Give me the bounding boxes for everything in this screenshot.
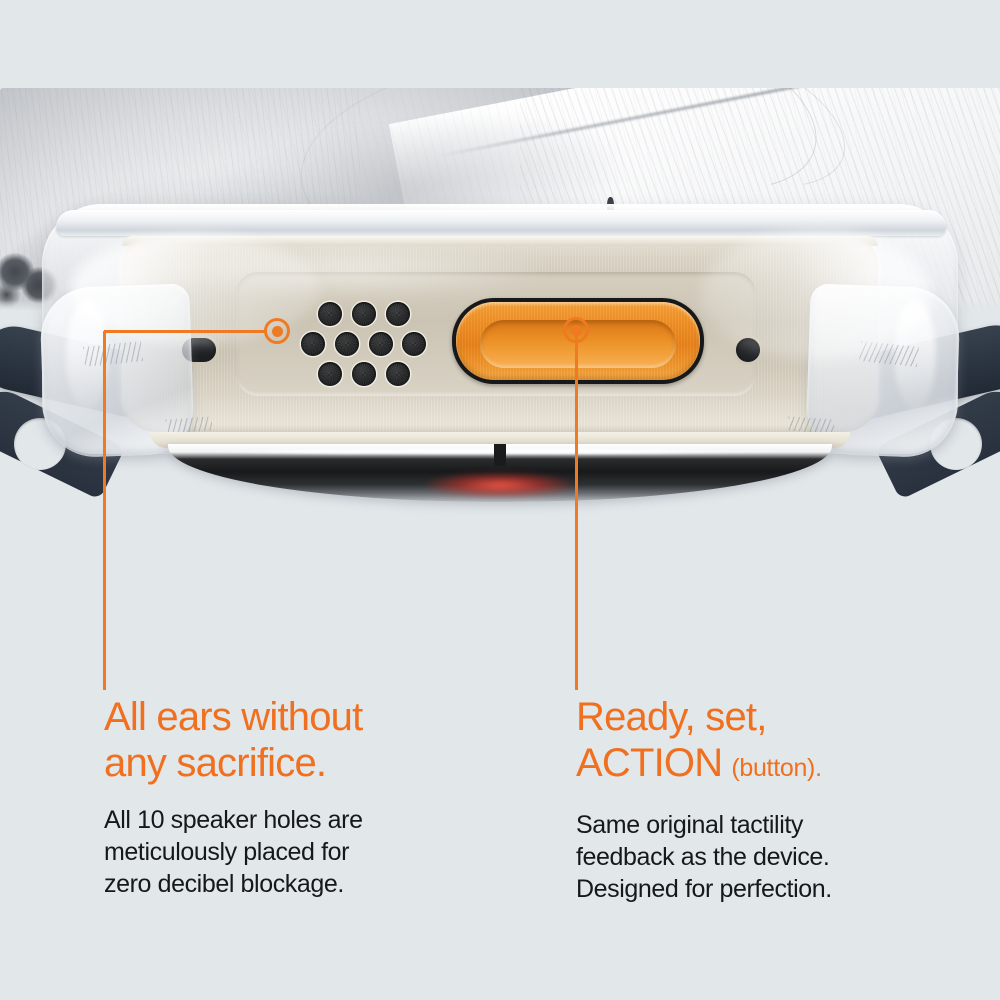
body-action-line2: feedback as the device.	[576, 841, 976, 873]
body-action-line3: Designed for perfection.	[576, 873, 976, 905]
smartwatch-with-clear-case	[0, 196, 1000, 526]
headline-speaker-line2: any sacrifice.	[104, 740, 524, 786]
body-speaker-line2: meticulously placed for	[104, 836, 524, 868]
callout-marker-speaker-holes[interactable]	[264, 318, 290, 344]
speaker-hole	[352, 302, 376, 326]
speaker-hole-grid	[300, 302, 426, 386]
callout-line-action-vertical	[575, 330, 578, 690]
headline-action-line2: ACTION(button).	[576, 740, 976, 791]
speaker-hole	[335, 332, 359, 356]
body-action: Same original tactility feedback as the …	[576, 809, 976, 905]
sensor-back-panel	[168, 444, 832, 502]
headline-action: Ready, set, ACTION(button).	[576, 694, 976, 791]
callout-text-speaker: All ears without any sacrifice. All 10 s…	[104, 694, 524, 900]
speaker-hole	[386, 302, 410, 326]
callout-text-action: Ready, set, ACTION(button). Same origina…	[576, 694, 976, 905]
heart-rate-sensor-glow	[425, 472, 575, 498]
body-action-line1: Same original tactility	[576, 809, 976, 841]
callout-line-speaker-vertical	[103, 331, 106, 690]
headline-action-small: (button).	[731, 754, 821, 782]
headline-speaker: All ears without any sacrifice.	[104, 694, 524, 786]
body-speaker-line1: All 10 speaker holes are	[104, 804, 524, 836]
headline-action-main: ACTION	[576, 741, 722, 785]
marketing-image-canvas: All ears without any sacrifice. All 10 s…	[0, 0, 1000, 1000]
speaker-hole	[318, 362, 342, 386]
speaker-hole	[318, 302, 342, 326]
speaker-hole	[386, 362, 410, 386]
sensor-center-nub	[494, 444, 506, 466]
headline-speaker-line1: All ears without	[104, 694, 524, 740]
speaker-hole	[369, 332, 393, 356]
body-speaker-line3: zero decibel blockage.	[104, 868, 524, 900]
speaker-hole	[402, 332, 426, 356]
speaker-hole	[301, 332, 325, 356]
body-speaker: All 10 speaker holes are meticulously pl…	[104, 804, 524, 900]
speaker-hole	[352, 362, 376, 386]
headline-action-line1: Ready, set,	[576, 694, 976, 740]
bumper-gloss-right	[700, 230, 930, 360]
callout-line-speaker-horizontal	[104, 330, 266, 333]
callout-marker-action-button[interactable]	[563, 317, 589, 343]
